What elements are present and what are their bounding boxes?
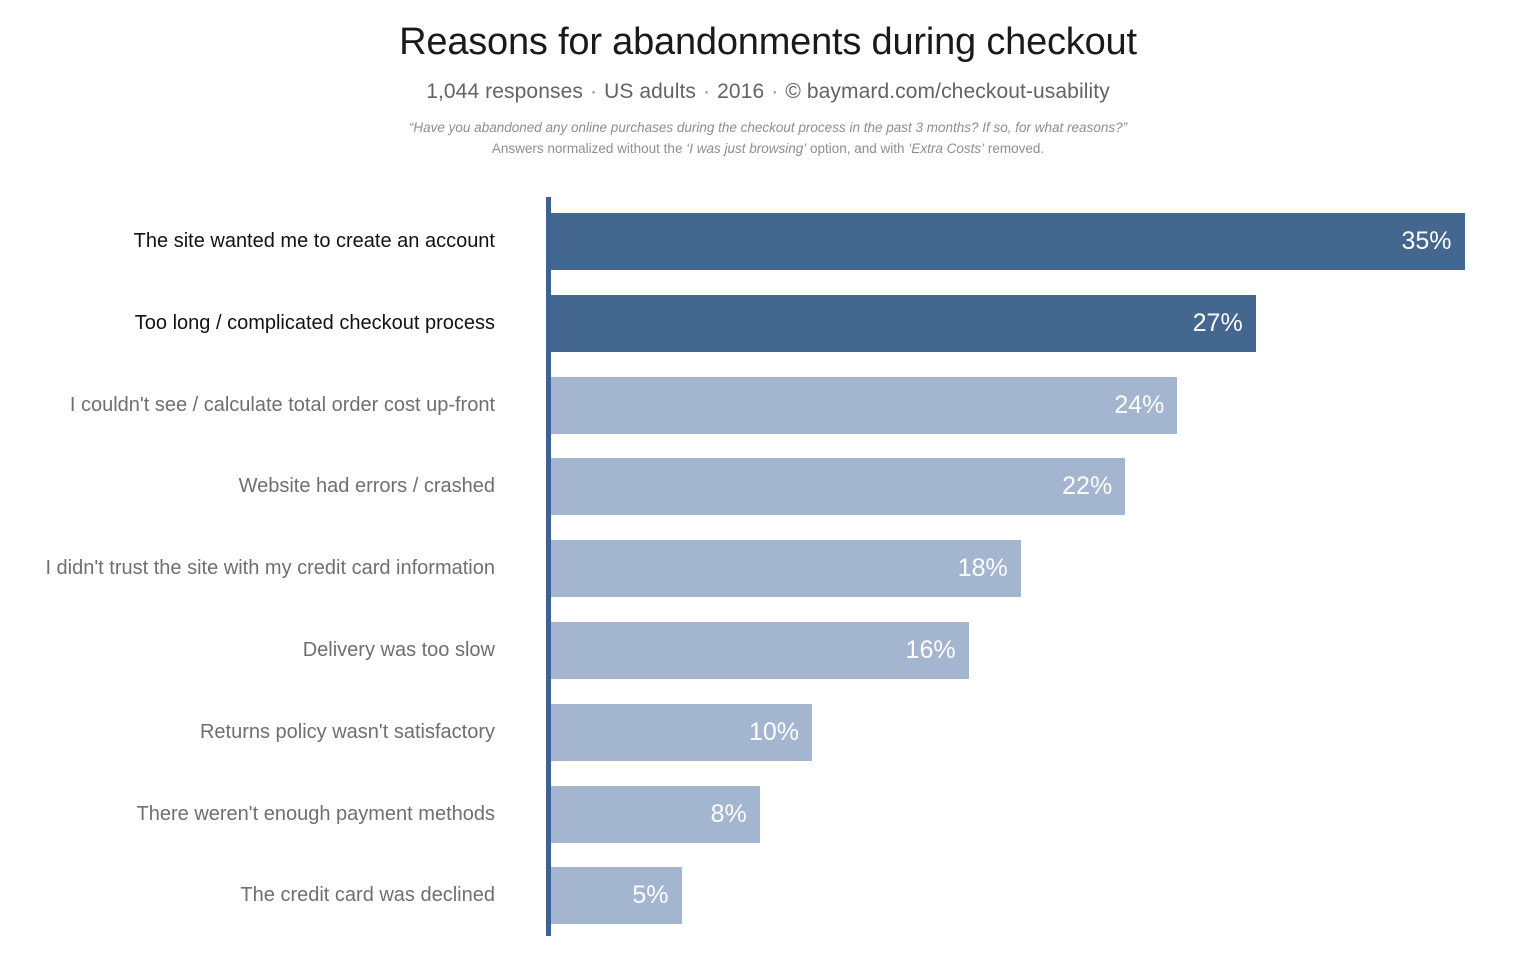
bar-value-label: 10% bbox=[749, 718, 812, 747]
bar-segment: 16% bbox=[551, 622, 969, 679]
note-normalization-middle: option, and with bbox=[806, 141, 908, 156]
bar-category-label: Delivery was too slow bbox=[0, 622, 495, 679]
subtitle-separator-3: · bbox=[764, 80, 785, 103]
note-normalization-suffix: removed. bbox=[984, 141, 1044, 156]
bar-segment: 18% bbox=[551, 540, 1021, 597]
bar-value-label: 16% bbox=[906, 636, 969, 665]
bar-row: The credit card was declined5% bbox=[0, 867, 1536, 924]
bar-segment: 22% bbox=[551, 458, 1125, 515]
chart-header: Reasons for abandonments during checkout… bbox=[0, 0, 1536, 160]
bar-segment: 24% bbox=[551, 377, 1177, 434]
bar-segment: 5% bbox=[551, 867, 682, 924]
bar-row: I didn't trust the site with my credit c… bbox=[0, 540, 1536, 597]
bar-category-label: The credit card was declined bbox=[0, 867, 495, 924]
chart-subtitle: 1,044 responses·US adults·2016·© baymard… bbox=[0, 80, 1536, 104]
bar-value-label: 35% bbox=[1401, 227, 1464, 256]
bar-row: Returns policy wasn't satisfactory10% bbox=[0, 704, 1536, 761]
bar-segment: 35% bbox=[551, 213, 1465, 270]
bar-category-label: Website had errors / crashed bbox=[0, 458, 495, 515]
category-axis-line bbox=[546, 197, 551, 936]
subtitle-source-credit: © baymard.com/checkout-usability bbox=[785, 80, 1109, 103]
note-option-browsing: ‘I was just browsing’ bbox=[686, 141, 806, 156]
bar-value-label: 24% bbox=[1114, 391, 1177, 420]
bar-category-label: There weren't enough payment methods bbox=[0, 786, 495, 843]
bar-row: I couldn't see / calculate total order c… bbox=[0, 377, 1536, 434]
bar-category-label: I couldn't see / calculate total order c… bbox=[0, 377, 495, 434]
note-question-text: “Have you abandoned any online purchases… bbox=[409, 120, 1127, 135]
chart-notes: “Have you abandoned any online purchases… bbox=[0, 118, 1536, 160]
bar-category-label: I didn't trust the site with my credit c… bbox=[0, 540, 495, 597]
subtitle-separator-2: · bbox=[696, 80, 717, 103]
note-survey-question: “Have you abandoned any online purchases… bbox=[0, 118, 1536, 139]
bar-row: Too long / complicated checkout process2… bbox=[0, 295, 1536, 352]
bar-row: Delivery was too slow16% bbox=[0, 622, 1536, 679]
bar-value-label: 27% bbox=[1193, 309, 1256, 338]
bar-value-label: 5% bbox=[632, 881, 681, 910]
subtitle-year: 2016 bbox=[717, 80, 764, 103]
subtitle-responses: 1,044 responses bbox=[426, 80, 583, 103]
bar-segment: 8% bbox=[551, 786, 760, 843]
bar-category-label: Returns policy wasn't satisfactory bbox=[0, 704, 495, 761]
bar-value-label: 22% bbox=[1062, 472, 1125, 501]
bar-value-label: 18% bbox=[958, 554, 1021, 583]
note-normalization: Answers normalized without the ‘I was ju… bbox=[0, 139, 1536, 160]
bar-row: The site wanted me to create an account3… bbox=[0, 213, 1536, 270]
page-title: Reasons for abandonments during checkout bbox=[0, 22, 1536, 64]
subtitle-separator-1: · bbox=[583, 80, 604, 103]
bar-segment: 27% bbox=[551, 295, 1256, 352]
bar-row: There weren't enough payment methods8% bbox=[0, 786, 1536, 843]
bar-segment: 10% bbox=[551, 704, 812, 761]
bar-row: Website had errors / crashed22% bbox=[0, 458, 1536, 515]
bar-category-label: Too long / complicated checkout process bbox=[0, 295, 495, 352]
bar-value-label: 8% bbox=[711, 800, 760, 829]
note-normalization-prefix: Answers normalized without the bbox=[492, 141, 686, 156]
note-option-extra-costs: ‘Extra Costs’ bbox=[908, 141, 984, 156]
subtitle-audience: US adults bbox=[604, 80, 696, 103]
bar-category-label: The site wanted me to create an account bbox=[0, 213, 495, 270]
